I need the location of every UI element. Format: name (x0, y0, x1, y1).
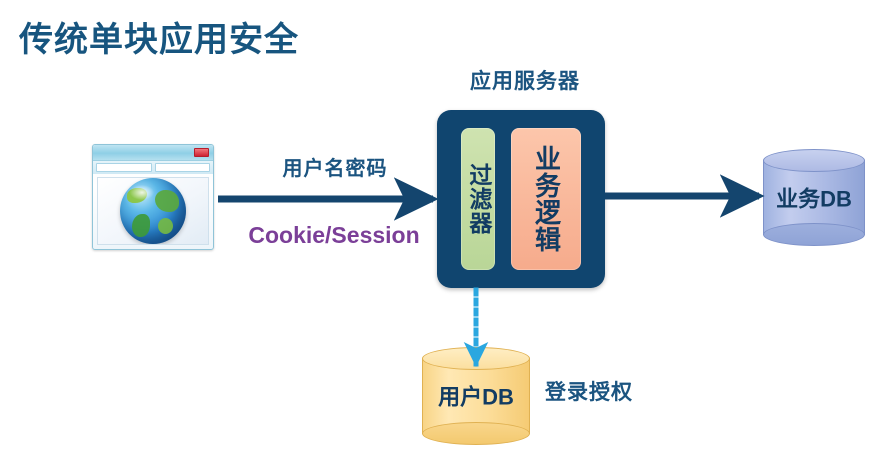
filter-component-label: 过滤器 (465, 163, 491, 235)
globe-landmass (155, 190, 179, 212)
browser-toolbar (93, 161, 213, 174)
browser-search-field (155, 163, 211, 172)
diagram-canvas: 传统单块应用安全 用户名密码 Cookie/Session 应用服务器 过滤器 (0, 0, 880, 457)
browser-window-icon (92, 144, 214, 250)
close-icon (194, 148, 209, 157)
cylinder-bottom (763, 223, 865, 246)
globe-landmass (132, 214, 150, 237)
browser-address-field (96, 163, 152, 172)
app-server-caption: 应用服务器 (455, 70, 595, 94)
app-server-node: 过滤器 业务逻辑 (437, 110, 605, 288)
globe-highlight (130, 185, 154, 200)
globe-landmass (158, 218, 173, 234)
browser-viewport (97, 177, 209, 245)
business-db-label: 业务DB (763, 181, 865, 213)
page-title: 传统单块应用安全 (19, 22, 299, 59)
browser-titlebar (93, 145, 213, 161)
globe-icon (120, 178, 186, 244)
business-logic-component: 业务逻辑 (511, 128, 581, 270)
cylinder-top (422, 347, 530, 370)
cylinder-top (763, 149, 865, 172)
user-db-node: 用户DB (422, 347, 530, 445)
user-db-label: 用户DB (422, 379, 530, 411)
edge-label-login-authorization: 登录授权 (545, 381, 633, 405)
business-db-node: 业务DB (763, 149, 865, 246)
edge-label-cookie-session: Cookie/Session (243, 222, 425, 248)
cylinder-bottom (422, 422, 530, 445)
filter-component: 过滤器 (461, 128, 495, 270)
business-logic-component-label: 业务逻辑 (531, 145, 560, 253)
edge-label-user-password: 用户名密码 (245, 158, 425, 181)
